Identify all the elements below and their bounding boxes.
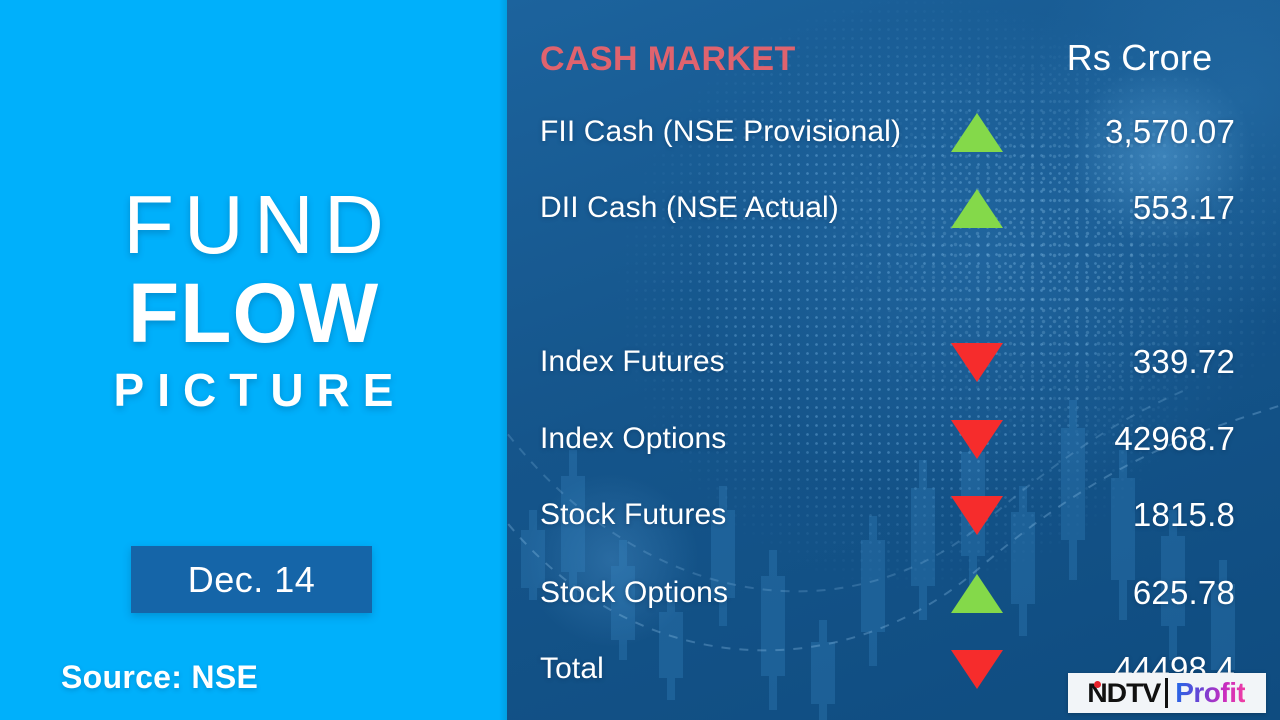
row-value: 42968.7 [1015, 415, 1235, 463]
logo-profit-text: Profit [1175, 677, 1245, 709]
brand-line-fund: FUND [0, 183, 507, 266]
arrow-down-icon [951, 650, 1003, 689]
date-badge-label: Dec. 14 [188, 559, 316, 601]
fund-flow-picture-graphic: FUND FLOW PICTURE Dec. 14 Source: NSE [0, 0, 1280, 720]
direction-indicator [939, 338, 1015, 386]
table-row: Stock Options 625.78 [507, 569, 1280, 617]
row-label: Index Options [540, 415, 726, 463]
direction-indicator [939, 569, 1015, 617]
table-row: Stock Futures 1815.8 [507, 491, 1280, 539]
direction-indicator [939, 415, 1015, 463]
left-branding-panel: FUND FLOW PICTURE Dec. 14 Source: NSE [0, 0, 507, 720]
direction-indicator [939, 491, 1015, 539]
ndtv-profit-logo: NDTV Profit [1068, 673, 1266, 713]
direction-indicator [939, 184, 1015, 232]
logo-red-dot-icon [1094, 681, 1101, 688]
table-row: FII Cash (NSE Provisional) 3,570.07 [507, 108, 1280, 156]
source-label: Source: NSE [61, 659, 258, 696]
arrow-down-icon [951, 343, 1003, 382]
row-value: 553.17 [1015, 184, 1235, 232]
direction-indicator [939, 108, 1015, 156]
row-label: DII Cash (NSE Actual) [540, 184, 839, 232]
table-row: Index Options 42968.7 [507, 415, 1280, 463]
row-value: 1815.8 [1015, 491, 1235, 539]
arrow-down-icon [951, 496, 1003, 535]
brand-line-picture: PICTURE [0, 367, 507, 413]
logo-divider [1165, 678, 1168, 708]
row-label: Index Futures [540, 338, 725, 386]
row-label: Stock Futures [540, 491, 726, 539]
row-label: FII Cash (NSE Provisional) [540, 108, 901, 156]
row-label: Stock Options [540, 569, 728, 617]
direction-indicator [939, 645, 1015, 693]
row-value: 625.78 [1015, 569, 1235, 617]
table-row: Index Futures 339.72 [507, 338, 1280, 386]
row-value: 3,570.07 [1015, 108, 1235, 156]
arrow-up-icon [951, 574, 1003, 613]
brand-line-flow: FLOW [0, 271, 507, 355]
row-label: Total [540, 645, 604, 693]
arrow-down-icon [951, 420, 1003, 459]
fund-flow-table: FII Cash (NSE Provisional) 3,570.07 DII … [507, 0, 1280, 720]
brand-title-block: FUND FLOW PICTURE [0, 183, 507, 413]
arrow-up-icon [951, 113, 1003, 152]
data-panel: CASH MARKET Rs Crore FII Cash (NSE Provi… [507, 0, 1280, 720]
arrow-up-icon [951, 189, 1003, 228]
table-row: DII Cash (NSE Actual) 553.17 [507, 184, 1280, 232]
date-badge: Dec. 14 [131, 546, 372, 613]
row-value: 339.72 [1015, 338, 1235, 386]
